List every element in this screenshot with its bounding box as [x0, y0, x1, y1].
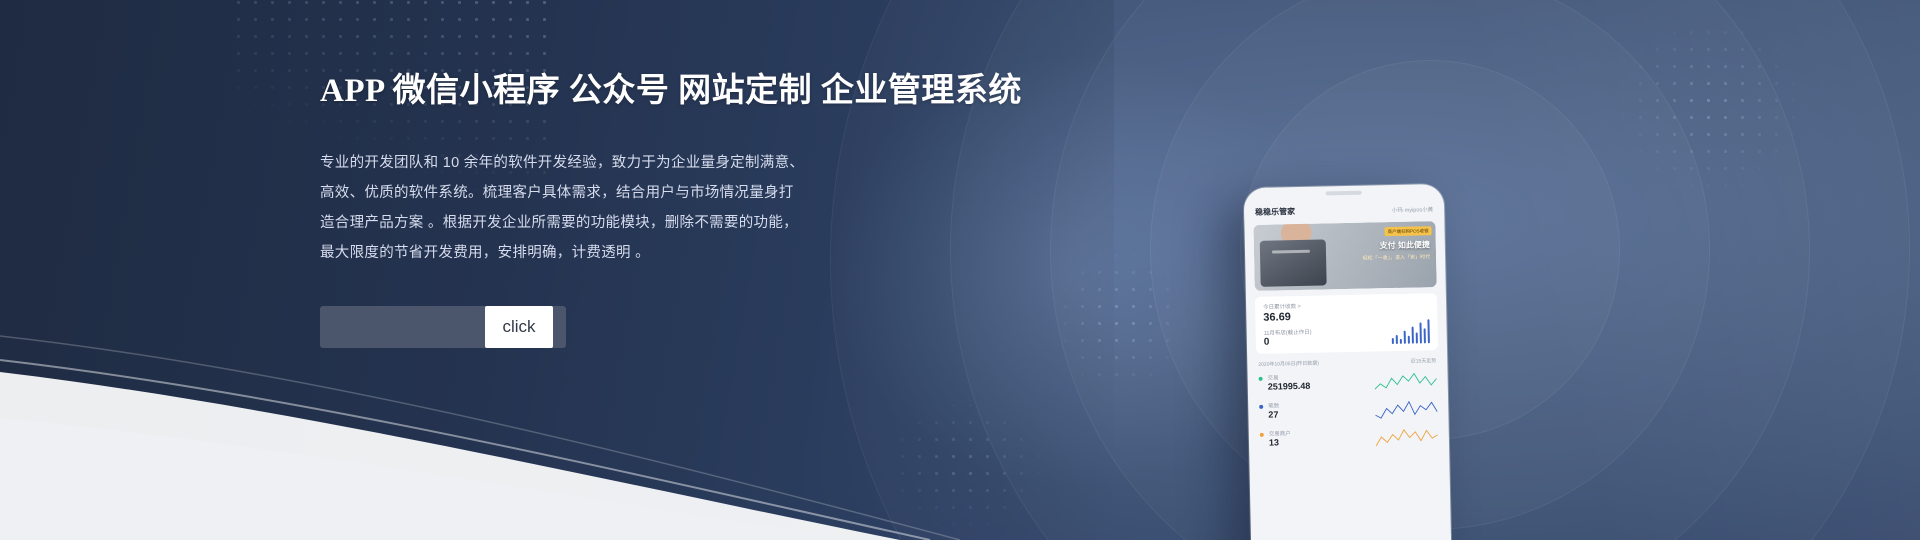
- metric-row[interactable]: 笔数27: [1248, 395, 1449, 427]
- metric-dot-icon: [1259, 377, 1263, 381]
- promo-banner: 商户端扫码POS收银 支付 如此便捷 轻松「一收」，进入「安」时代: [1253, 221, 1436, 291]
- metric-row[interactable]: 交易商户13: [1249, 423, 1450, 455]
- bar: [1391, 338, 1394, 344]
- sparkline-chart: [1375, 398, 1437, 421]
- sparkline-chart: [1376, 426, 1438, 449]
- sparkline-chart: [1374, 370, 1436, 393]
- promo-subline: 轻松「一收」，进入「安」时代: [1363, 253, 1431, 261]
- bar: [1415, 332, 1418, 344]
- today-stats-card[interactable]: 今日累计收款 > 36.69 11月布店(截止作日) 0: [1255, 293, 1438, 354]
- metric-dot-icon: [1259, 405, 1263, 409]
- metric-label: 交易商户: [1269, 429, 1291, 437]
- bar: [1399, 339, 1402, 344]
- hero-banner: APP 微信小程序 公众号 网站定制 企业管理系统 专业的开发团队和 10 余年…: [0, 0, 1920, 540]
- chart-trend-link[interactable]: 近15天走势: [1411, 357, 1437, 365]
- phone-mockup: 稳稳乐管家 小玛·myipos小黄 商户端扫码POS收银 支付 如此便捷 轻松「…: [1244, 184, 1453, 540]
- hero-paragraph: 专业的开发团队和 10 余年的软件开发经验，致力于为企业量身定制满意、 高效、优…: [320, 148, 960, 268]
- paragraph-line: 最大限度的节省开发费用，安排明确，计费透明 。: [320, 238, 960, 268]
- pos-terminal-icon: [1260, 239, 1327, 286]
- promo-card[interactable]: 商户端扫码POS收银 支付 如此便捷 轻松「一收」，进入「安」时代: [1253, 221, 1436, 291]
- metric-value: 13: [1269, 437, 1291, 447]
- bar: [1395, 335, 1398, 344]
- page-title: APP 微信小程序 公众号 网站定制 企业管理系统: [320, 72, 960, 112]
- click-button[interactable]: click: [485, 306, 553, 348]
- metrics-list: 交易251995.48笔数27交易商户13: [1247, 367, 1449, 455]
- app-subtitle: 小玛·myipos小黄: [1392, 205, 1433, 214]
- bar: [1403, 331, 1406, 344]
- metric-dot-icon: [1260, 433, 1264, 437]
- bar: [1427, 319, 1430, 343]
- mini-bar-chart: [1391, 319, 1430, 344]
- dot-pattern-icon: [1530, 0, 1830, 320]
- bar: [1407, 335, 1410, 343]
- bar: [1419, 323, 1422, 344]
- chart-date-range: 2020年10月05日(昨日数据): [1258, 360, 1319, 368]
- promo-tag: 商户端扫码POS收银: [1384, 226, 1431, 236]
- metric-row[interactable]: 交易251995.48: [1247, 367, 1448, 399]
- paragraph-line: 高效、优质的软件系统。梳理客户具体需求，结合用户与市场情况量身打: [320, 178, 960, 208]
- phone-notch-icon: [1326, 191, 1362, 196]
- hero-copy: APP 微信小程序 公众号 网站定制 企业管理系统 专业的开发团队和 10 余年…: [320, 72, 960, 348]
- metric-value: 251995.48: [1268, 381, 1311, 392]
- paragraph-line: 专业的开发团队和 10 余年的软件开发经验，致力于为企业量身定制满意、: [320, 148, 960, 178]
- metric-label: 笔数: [1268, 401, 1279, 409]
- bar: [1411, 327, 1414, 344]
- cta-group: click: [320, 306, 566, 348]
- bar: [1423, 329, 1426, 344]
- paragraph-line: 造合理产品方案 。根据开发企业所需要的功能模块，删除不需要的功能，: [320, 208, 960, 238]
- metric-value: 27: [1268, 409, 1279, 419]
- promo-headline: 支付 如此便捷: [1380, 239, 1430, 251]
- pos-screen-icon: [1272, 250, 1310, 254]
- app-title: 稳稳乐管家: [1255, 206, 1295, 218]
